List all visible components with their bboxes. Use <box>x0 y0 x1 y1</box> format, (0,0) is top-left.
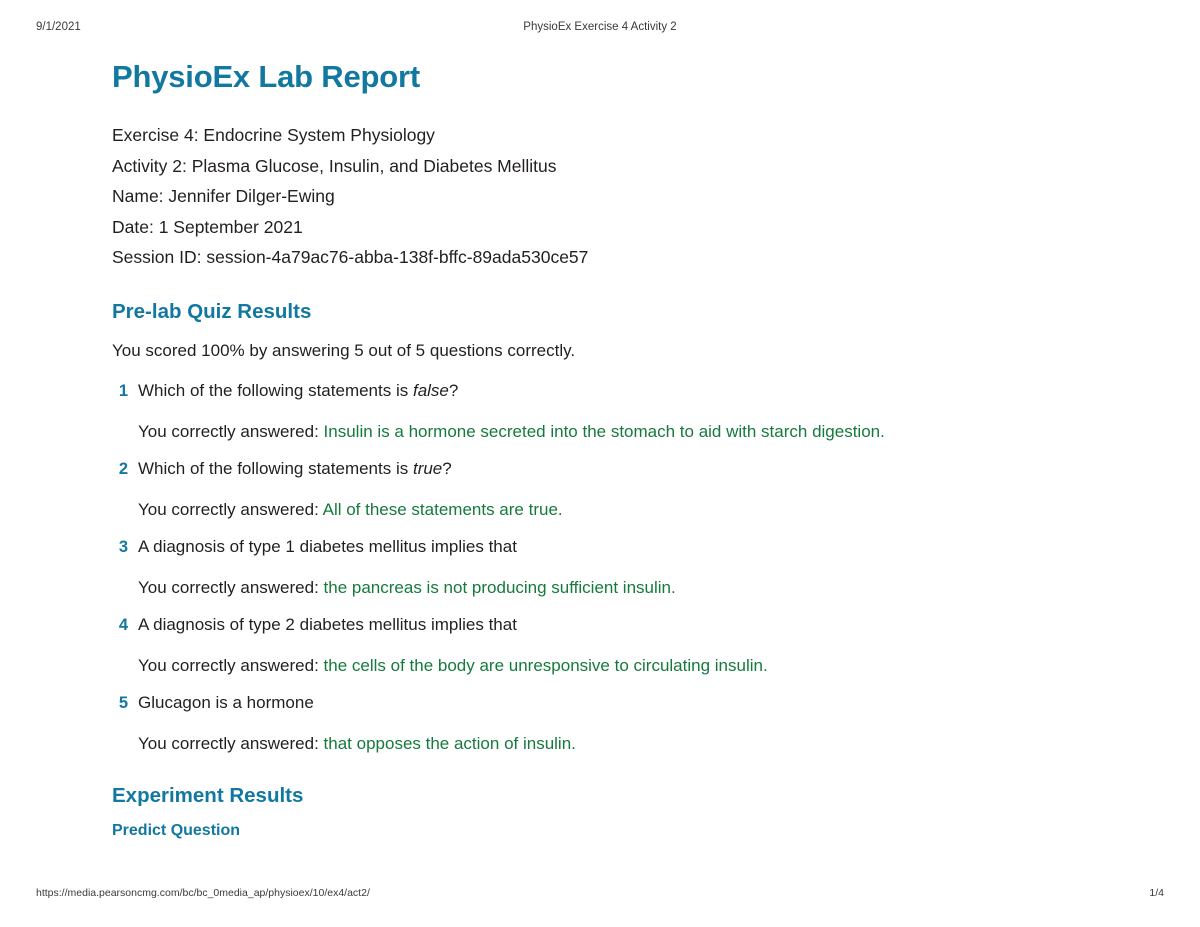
meta-line-name: Name: Jennifer Dilger-Ewing <box>112 181 1012 212</box>
quiz-answer-value: that opposes the action of insulin. <box>324 734 576 753</box>
quiz-answer-value: All of these statements are true. <box>323 500 563 519</box>
quiz-question-text-before: Which of the following statements is <box>138 459 413 478</box>
prelab-score-text: You scored 100% by answering 5 out of 5 … <box>112 338 1012 364</box>
quiz-answer: You correctly answered: the cells of the… <box>112 653 1012 679</box>
quiz-item: 1 Which of the following statements is f… <box>112 378 1012 445</box>
quiz-question: 4 A diagnosis of type 2 diabetes mellitu… <box>112 612 1012 638</box>
quiz-number: 3 <box>112 534 128 560</box>
quiz-item: 5 Glucagon is a hormone You correctly an… <box>112 690 1012 757</box>
quiz-answer: You correctly answered: that opposes the… <box>112 731 1012 757</box>
quiz-question: 2 Which of the following statements is t… <box>112 456 1012 482</box>
quiz-answer: You correctly answered: All of these sta… <box>112 497 1012 523</box>
quiz-answer-prefix: You correctly answered: <box>138 578 319 597</box>
section-heading-prelab: Pre-lab Quiz Results <box>112 300 1012 325</box>
quiz-answer: You correctly answered: the pancreas is … <box>112 575 1012 601</box>
quiz-question: 5 Glucagon is a hormone <box>112 690 1012 716</box>
meta-line-exercise: Exercise 4: Endocrine System Physiology <box>112 120 1012 151</box>
quiz-answer-prefix: You correctly answered: <box>138 422 319 441</box>
quiz-item: 2 Which of the following statements is t… <box>112 456 1012 523</box>
quiz-question-text: A diagnosis of type 2 diabetes mellitus … <box>138 615 517 634</box>
quiz-question: 3 A diagnosis of type 1 diabetes mellitu… <box>112 534 1012 560</box>
quiz-question-text: Which of the following statements is tru… <box>138 459 452 478</box>
quiz-answer-value: the pancreas is not producing sufficient… <box>324 578 676 597</box>
quiz-question-text: Which of the following statements is fal… <box>138 381 458 400</box>
quiz-item: 3 A diagnosis of type 1 diabetes mellitu… <box>112 534 1012 601</box>
quiz-question-text-italic: false <box>413 381 449 400</box>
page-title: PhysioEx Lab Report <box>112 60 1012 94</box>
document-meta-block: Exercise 4: Endocrine System Physiology … <box>112 120 1012 273</box>
meta-line-activity: Activity 2: Plasma Glucose, Insulin, and… <box>112 151 1012 182</box>
quiz-answer-prefix: You correctly answered: <box>138 656 319 675</box>
prelab-question-list: 1 Which of the following statements is f… <box>112 378 1012 757</box>
quiz-number: 2 <box>112 456 128 482</box>
meta-line-session-id: Session ID: session-4a79ac76-abba-138f-b… <box>112 242 1012 273</box>
print-header: 9/1/2021 PhysioEx Exercise 4 Activity 2 <box>36 21 1164 37</box>
quiz-question-text-before: A diagnosis of type 2 diabetes mellitus … <box>138 615 517 634</box>
quiz-number: 5 <box>112 690 128 716</box>
quiz-item: 4 A diagnosis of type 2 diabetes mellitu… <box>112 612 1012 679</box>
quiz-answer-prefix: You correctly answered: <box>138 734 319 753</box>
quiz-answer: You correctly answered: Insulin is a hor… <box>112 419 1012 445</box>
quiz-number: 1 <box>112 378 128 404</box>
quiz-question-text: Glucagon is a hormone <box>138 693 314 712</box>
quiz-question-text: A diagnosis of type 1 diabetes mellitus … <box>138 537 517 556</box>
document-content: PhysioEx Lab Report Exercise 4: Endocrin… <box>112 60 1012 840</box>
print-header-title: PhysioEx Exercise 4 Activity 2 <box>36 21 1164 33</box>
quiz-answer-value: the cells of the body are unresponsive t… <box>324 656 768 675</box>
print-footer: https://media.pearsoncmg.com/bc/bc_0medi… <box>36 887 1164 903</box>
section-heading-experiment: Experiment Results <box>112 784 1012 809</box>
quiz-question-text-before: A diagnosis of type 1 diabetes mellitus … <box>138 537 517 556</box>
lab-report-page: 9/1/2021 PhysioEx Exercise 4 Activity 2 … <box>0 0 1200 927</box>
quiz-question-text-after: ? <box>449 381 458 400</box>
quiz-question: 1 Which of the following statements is f… <box>112 378 1012 404</box>
meta-line-date: Date: 1 September 2021 <box>112 212 1012 243</box>
subsection-heading-predict-question: Predict Question <box>112 821 1012 840</box>
print-footer-url: https://media.pearsoncmg.com/bc/bc_0medi… <box>36 887 370 899</box>
quiz-number: 4 <box>112 612 128 638</box>
quiz-question-text-before: Which of the following statements is <box>138 381 413 400</box>
print-footer-page-number: 1/4 <box>1149 887 1164 899</box>
quiz-question-text-italic: true <box>413 459 442 478</box>
quiz-answer-prefix: You correctly answered: <box>138 500 319 519</box>
quiz-question-text-before: Glucagon is a hormone <box>138 693 314 712</box>
quiz-answer-value: Insulin is a hormone secreted into the s… <box>324 422 885 441</box>
quiz-question-text-after: ? <box>442 459 451 478</box>
